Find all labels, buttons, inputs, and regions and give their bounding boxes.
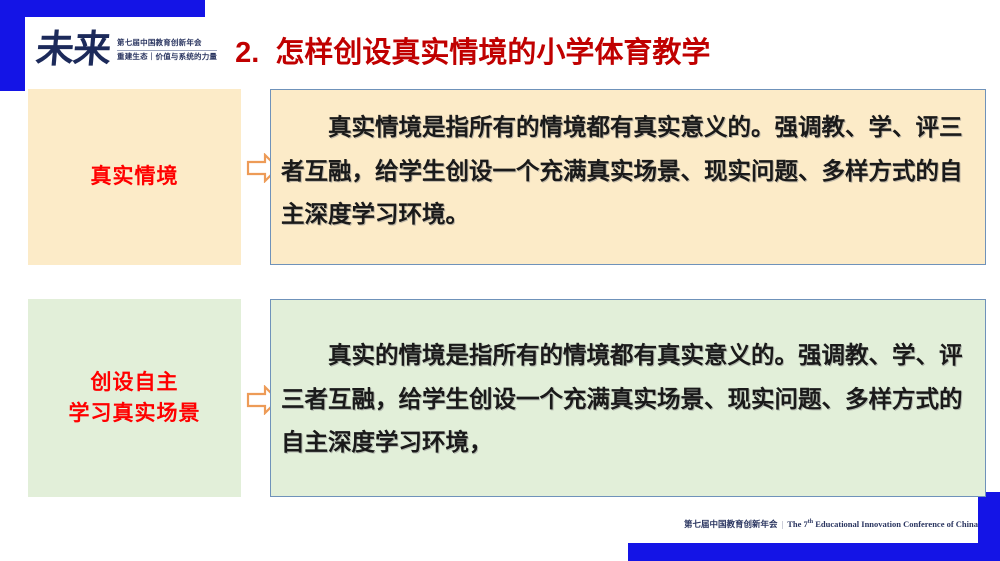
- footer-en-suffix: Educational Innovation Conference of Chi…: [813, 519, 978, 529]
- concept-label-2-line1: 创设自主: [91, 367, 179, 399]
- description-text-1: 真实情境是指所有的情境都有真实意义的。强调教、学、评三者互融，给学生创设一个充满…: [281, 106, 979, 237]
- description-box-1: 真实情境是指所有的情境都有真实意义的。强调教、学、评三者互融，给学生创设一个充满…: [270, 89, 986, 265]
- title-number: 2.: [235, 37, 259, 69]
- decoration-top-blue-bar: [0, 0, 205, 17]
- logo-wordmark: 未来: [34, 31, 111, 69]
- content-row-1: 真实情境 真实情境是指所有的情境都有真实意义的。强调教、学、评三者互融，给学生创…: [0, 89, 1000, 265]
- logo-divider: [117, 50, 217, 51]
- content-row-2: 创设自主 学习真实场景 真实的情境是指所有的情境都有真实意义的。强调教、学、评三…: [0, 299, 1000, 497]
- decoration-right-blue-bar: [978, 492, 1000, 544]
- footer-cn: 第七届中国教育创新年会: [684, 519, 778, 529]
- logo-tagline-line2: 重建生态｜价值与系统的力量: [117, 52, 217, 62]
- footer-en-prefix: The 7: [787, 519, 808, 529]
- logo-tagline: 第七届中国教育创新年会 重建生态｜价值与系统的力量: [117, 38, 217, 61]
- page-title: 2.怎样创设真实情境的小学体育教学: [235, 29, 710, 71]
- slide-canvas: 未来 第七届中国教育创新年会 重建生态｜价值与系统的力量 2.怎样创设真实情境的…: [0, 0, 1000, 561]
- logo-tagline-line1: 第七届中国教育创新年会: [117, 38, 217, 48]
- concept-label-2-line2: 学习真实场景: [69, 398, 201, 430]
- footer-en: The 7th Educational Innovation Conferenc…: [787, 519, 978, 529]
- concept-label-box-2: 创设自主 学习真实场景: [28, 299, 241, 497]
- concept-label-box-1: 真实情境: [28, 89, 241, 265]
- conference-logo: 未来 第七届中国教育创新年会 重建生态｜价值与系统的力量: [28, 31, 217, 69]
- footer-branding: 第七届中国教育创新年会|The 7th Educational Innovati…: [628, 518, 978, 530]
- decoration-bottom-blue-bar: [628, 543, 1000, 561]
- concept-label-1: 真实情境: [91, 161, 179, 193]
- slide-header: 未来 第七届中国教育创新年会 重建生态｜价值与系统的力量 2.怎样创设真实情境的…: [28, 18, 988, 82]
- description-box-2: 真实的情境是指所有的情境都有真实意义的。强调教、学、评三者互融，给学生创设一个充…: [270, 299, 986, 497]
- decoration-left-blue-bar: [0, 17, 25, 91]
- footer-separator: |: [782, 519, 784, 529]
- description-text-2: 真实的情境是指所有的情境都有真实意义的。强调教、学、评三者互融，给学生创设一个充…: [281, 334, 979, 465]
- title-text: 怎样创设真实情境的小学体育教学: [275, 37, 710, 69]
